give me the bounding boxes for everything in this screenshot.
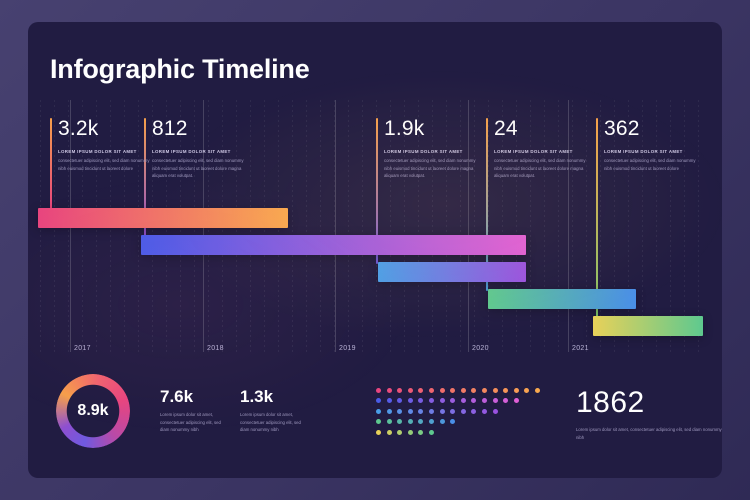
dot-matrix-dot [408,430,413,435]
dot-matrix-dot [471,398,476,403]
year-label: 2021 [572,345,589,352]
dot-matrix-dot [429,398,434,403]
year-gridline [335,100,336,352]
stat-value: 1.9k [384,118,476,139]
dot-matrix-dot [493,388,498,393]
stat-body: consectetuer adipiscing elit, sed diam n… [58,157,150,172]
dot-matrix-dot [429,388,434,393]
timeline-chart: 3.2kLOREM IPSUM DOLOR SIT AMETconsectetu… [28,100,722,358]
dot-matrix-dot [376,398,381,403]
mini-stat-value: 7.6k [160,388,228,405]
stat-block: 362LOREM IPSUM DOLOR SIT AMETconsectetue… [604,118,696,172]
dot-matrix-dot [418,409,423,414]
stat-body: consectetuer adipiscing elit, sed diam n… [494,157,586,180]
dot-matrix-dot [524,388,529,393]
dot-matrix-dot [408,388,413,393]
dot-matrix-row [376,398,540,403]
dot-matrix-row [376,430,540,435]
stat-heading: LOREM IPSUM DOLOR SIT AMET [384,149,476,154]
mini-stat-value: 1.3k [240,388,308,405]
dot-matrix-dot [450,398,455,403]
dot-matrix-dot [397,398,402,403]
dot-matrix-dot [535,388,540,393]
dot-matrix-dot [440,398,445,403]
dot-matrix-dot [376,419,381,424]
page-title: Infographic Timeline [50,54,310,85]
mini-stat-body: Lorem ipsum dolor sit amet, consectetuer… [160,411,228,434]
stat-value: 24 [494,118,586,139]
dot-matrix-dot [376,388,381,393]
stat-block: 3.2kLOREM IPSUM DOLOR SIT AMETconsectetu… [58,118,150,172]
dot-matrix-dot [440,419,445,424]
year-label: 2020 [472,345,489,352]
dot-matrix-dot [440,409,445,414]
dot-matrix-dot [418,398,423,403]
stat-block: 24LOREM IPSUM DOLOR SIT AMETconsectetuer… [494,118,586,180]
dot-matrix-dot [450,409,455,414]
stat-heading: LOREM IPSUM DOLOR SIT AMET [58,149,150,154]
dot-matrix-dot [408,398,413,403]
dot-matrix-dot [493,398,498,403]
dot-matrix-dot [461,409,466,414]
dot-matrix-dot [376,409,381,414]
dot-matrix-dot [493,409,498,414]
year-label: 2017 [74,345,91,352]
stat-marker-line [596,118,598,318]
dot-matrix-dot [450,419,455,424]
dot-matrix-dot [429,419,434,424]
dot-matrix-dot [471,409,476,414]
dot-matrix-dot [387,409,392,414]
timeline-bar[interactable] [38,208,288,228]
dot-matrix-dot [461,388,466,393]
dot-matrix-dot [461,398,466,403]
dot-matrix-dot [387,388,392,393]
dot-matrix-dot [397,409,402,414]
dot-matrix-dot [387,419,392,424]
dot-matrix-dot [408,419,413,424]
stat-heading: LOREM IPSUM DOLOR SIT AMET [494,149,586,154]
timeline-bar[interactable] [378,262,526,282]
infographic-card: Infographic Timeline 3.2kLOREM IPSUM DOL… [28,22,722,478]
stat-block: 1.9kLOREM IPSUM DOLOR SIT AMETconsectetu… [384,118,476,180]
big-number-value: 1862 [576,388,722,418]
summary-section: 8.9k 7.6kLorem ipsum dolor sit amet, con… [28,362,722,478]
big-number-body: Lorem ipsum dolor sit amet, consectetuer… [576,426,722,441]
dot-matrix-dot [397,388,402,393]
dot-matrix-row [376,409,540,414]
dot-matrix-dot [482,398,487,403]
infographic-canvas: Infographic Timeline 3.2kLOREM IPSUM DOL… [0,0,750,500]
dot-matrix-dot [408,409,413,414]
timeline-bar[interactable] [593,316,703,336]
stat-block: 812LOREM IPSUM DOLOR SIT AMETconsectetue… [152,118,244,180]
dot-matrix [376,388,540,440]
mini-stat: 1.3kLorem ipsum dolor sit amet, consecte… [240,388,308,434]
dot-matrix-dot [397,430,402,435]
stat-value: 362 [604,118,696,139]
dot-matrix-dot [440,388,445,393]
mini-stat-body: Lorem ipsum dolor sit amet, consectetuer… [240,411,308,434]
stat-value: 3.2k [58,118,150,139]
stat-heading: LOREM IPSUM DOLOR SIT AMET [604,149,696,154]
dot-matrix-dot [387,430,392,435]
stat-marker-line [50,118,52,210]
stat-body: consectetuer adipiscing elit, sed diam n… [152,157,244,180]
timeline-bar[interactable] [141,235,526,255]
timeline-bar[interactable] [488,289,636,309]
dot-matrix-dot [418,388,423,393]
stat-body: consectetuer adipiscing elit, sed diam n… [384,157,476,180]
donut-chart: 8.9k [56,374,130,448]
dot-matrix-row [376,419,540,424]
dot-matrix-dot [471,388,476,393]
year-label: 2019 [339,345,356,352]
dot-matrix-dot [429,409,434,414]
stat-heading: LOREM IPSUM DOLOR SIT AMET [152,149,244,154]
dot-matrix-dot [429,430,434,435]
dot-matrix-dot [376,430,381,435]
donut-value: 8.9k [56,374,130,448]
dot-matrix-dot [397,419,402,424]
dot-matrix-dot [387,398,392,403]
dot-matrix-dot [482,388,487,393]
dot-matrix-dot [514,398,519,403]
year-label: 2018 [207,345,224,352]
dot-matrix-dot [482,409,487,414]
dot-matrix-dot [450,388,455,393]
stat-body: consectetuer adipiscing elit, sed diam n… [604,157,696,172]
big-number-block: 1862 Lorem ipsum dolor sit amet, consect… [576,388,722,441]
dot-matrix-dot [503,388,508,393]
dot-matrix-dot [418,419,423,424]
dot-matrix-dot [418,430,423,435]
dot-matrix-dot [503,398,508,403]
dot-matrix-row [376,388,540,393]
dot-matrix-dot [514,388,519,393]
stat-value: 812 [152,118,244,139]
mini-stat: 7.6kLorem ipsum dolor sit amet, consecte… [160,388,228,434]
